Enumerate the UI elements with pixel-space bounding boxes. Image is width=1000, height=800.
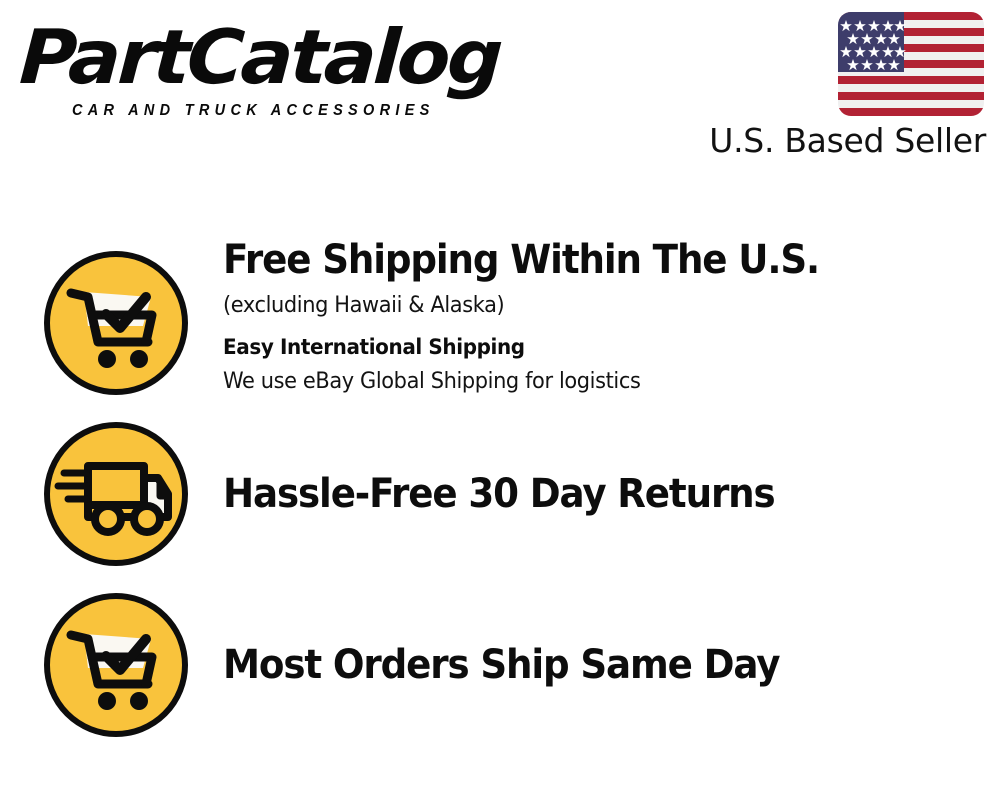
- benefit-item-same-day-ship: Most Orders Ship Same Day: [42, 591, 982, 751]
- benefit-heading: Most Orders Ship Same Day: [223, 642, 779, 688]
- benefit-heading: Hassle-Free 30 Day Returns: [223, 471, 775, 517]
- benefit-note: (excluding Hawaii & Alaska): [223, 290, 504, 322]
- benefit-sub-heading: Easy International Shipping: [223, 332, 525, 363]
- benefit-sub-text: We use eBay Global Shipping for logistic…: [223, 366, 640, 398]
- delivery-truck-icon: [42, 420, 190, 568]
- benefit-item-returns: Hassle-Free 30 Day Returns: [42, 420, 982, 580]
- benefit-heading: Free Shipping Within The U.S.: [223, 237, 819, 283]
- seller-info-banner: PartCatalog CAR AND TRUCK ACCESSORIES: [0, 0, 1000, 800]
- benefits-list: Free Shipping Within The U.S. (excluding…: [0, 0, 1000, 800]
- shopping-cart-check-icon: [42, 249, 190, 397]
- benefit-item-free-shipping: Free Shipping Within The U.S. (excluding…: [42, 249, 982, 409]
- shopping-cart-check-icon: [42, 591, 190, 739]
